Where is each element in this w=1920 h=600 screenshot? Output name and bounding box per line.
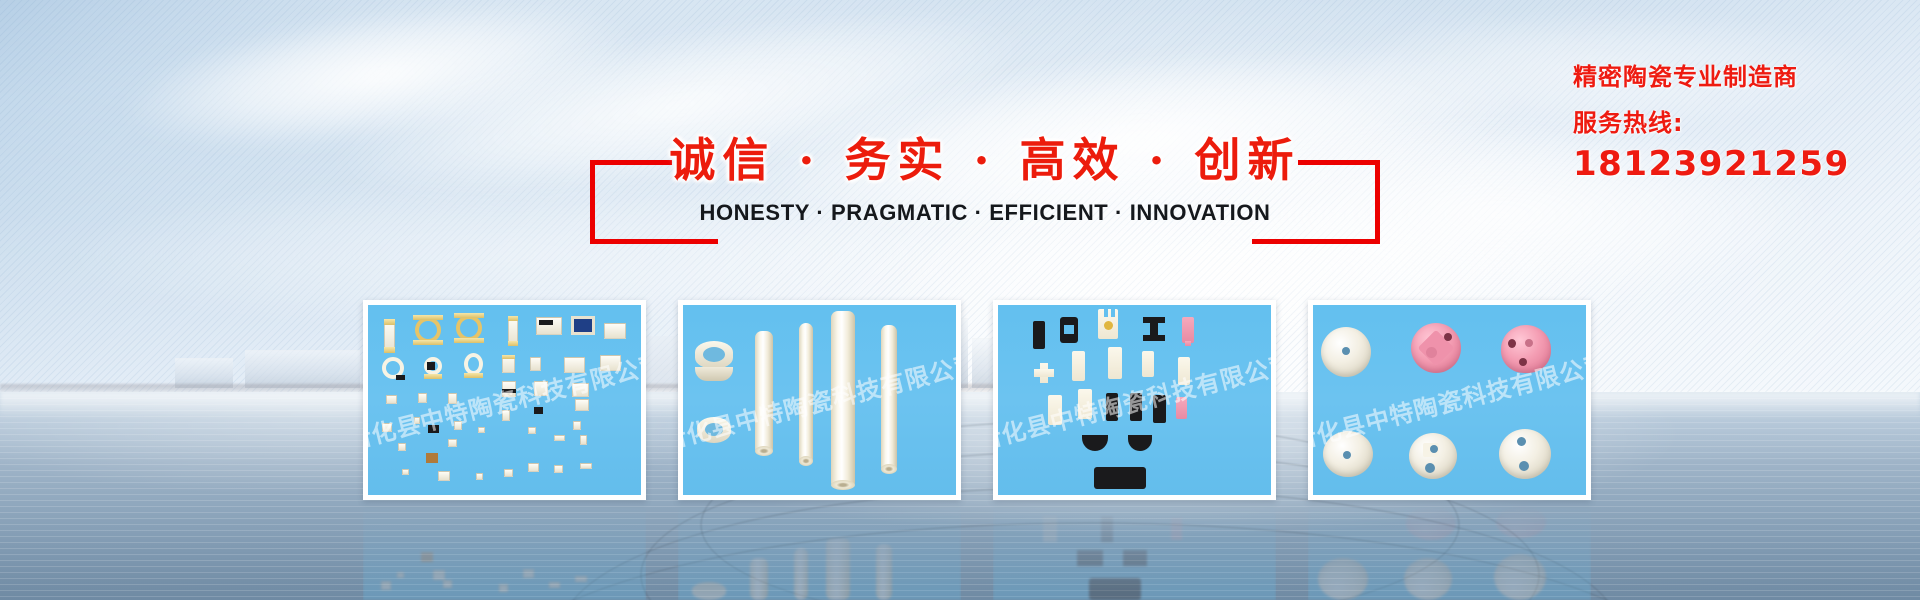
- panel-image: 新化县中特陶瓷科技有限公司: [998, 305, 1271, 495]
- hotline-phone-number[interactable]: 18123921259: [1573, 144, 1903, 184]
- panel-image: 新化县中特陶瓷科技有限公司: [368, 305, 641, 495]
- panel-image: 新化县中特陶瓷科技有限公司: [683, 305, 956, 495]
- slogan-chinese: 诚信 · 务实 · 高效 · 创新: [590, 128, 1380, 192]
- hotline-label: 服务热线:: [1573, 108, 1903, 138]
- company-tagline: 精密陶瓷专业制造商: [1573, 62, 1903, 92]
- bracket-right-bottom: [1252, 239, 1380, 244]
- building: [245, 350, 360, 388]
- panel-ceramic-tubes-rings[interactable]: 新化县中特陶瓷科技有限公司: [678, 300, 961, 500]
- product-panel-row: 新化县中特陶瓷科技有限公司 新化县中特陶瓷科技有限公司: [363, 300, 1593, 500]
- panel-reflections: [363, 504, 1593, 600]
- panel-image: 新化县中特陶瓷科技有限公司: [1313, 305, 1586, 495]
- bracket-left-bottom: [590, 239, 718, 244]
- slogan-block: 诚信 · 务实 · 高效 · 创新 HONESTY · PRAGMATIC · …: [590, 128, 1380, 248]
- panel-ceramic-blocks[interactable]: 新化县中特陶瓷科技有限公司: [993, 300, 1276, 500]
- panel-reflection: [363, 504, 646, 600]
- panel-ceramic-discs[interactable]: 新化县中特陶瓷科技有限公司: [1308, 300, 1591, 500]
- panel-reflection: [678, 504, 961, 600]
- contact-block: 精密陶瓷专业制造商 服务热线: 18123921259: [1573, 62, 1903, 184]
- panel-reflection: [1308, 504, 1591, 600]
- panel-smd-ceramic-components[interactable]: 新化县中特陶瓷科技有限公司: [363, 300, 646, 500]
- panel-reflection: [993, 504, 1276, 600]
- slogan-english: HONESTY · PRAGMATIC · EFFICIENT · INNOVA…: [590, 200, 1380, 226]
- promo-banner: 诚信 · 务实 · 高效 · 创新 HONESTY · PRAGMATIC · …: [0, 0, 1920, 600]
